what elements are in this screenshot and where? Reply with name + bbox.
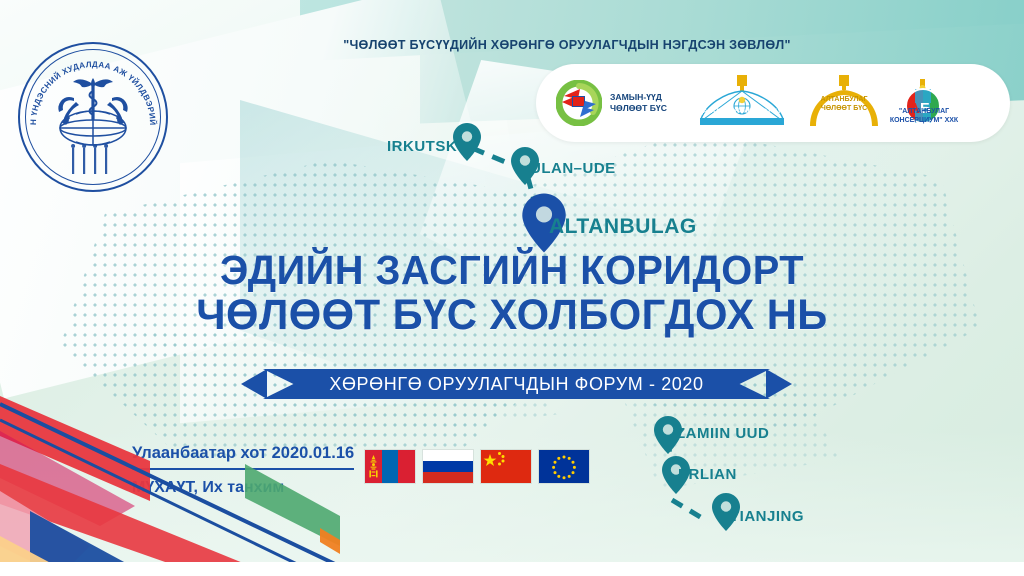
geo-shape-blue bbox=[30, 511, 150, 576]
council-title: "ЧӨЛӨӨТ БҮСҮҮДИЙН ХӨРӨНГӨ ОРУУЛАГЧДЫН НЭ… bbox=[0, 36, 1024, 54]
tsagaannuur-fez-label: ЦАГААННУУР ЧӨЛӨӨТ БҮС bbox=[696, 108, 788, 116]
zamyn-uud-fez-label: ЗАМЫН-ҮҮД ЧӨЛӨӨТ БҮС bbox=[610, 92, 667, 113]
geo-shape-yellow bbox=[0, 536, 60, 576]
altanbulag-fez-line1: АЛТАНБУЛАГ bbox=[804, 96, 884, 105]
flag-mongolia bbox=[365, 450, 415, 483]
main-title-line1: ЭДИЙН ЗАСГИЙН КОРИДОРТ bbox=[15, 248, 1008, 292]
map-pin-tianjing-label: TIANJING bbox=[730, 508, 804, 525]
tsagaannuur-fez-line1: ЦАГААННУУР ЧӨЛӨӨТ БҮС bbox=[698, 108, 785, 115]
altanbulag-consortium-label: "АЛТАНБУЛАГ КОНСЕРЦИУМ" ХХК bbox=[878, 108, 970, 126]
geo-shape-pink bbox=[0, 491, 90, 576]
zamyn-uud-fez-logo: ЗАМЫН-ҮҮД ЧӨЛӨӨТ БҮС bbox=[556, 64, 667, 142]
horses-caduceus-globe-emblem-icon bbox=[18, 42, 168, 192]
geo-shape-magenta bbox=[0, 431, 135, 526]
soyombo-icon bbox=[368, 454, 379, 479]
venue-date: Улаанбаатар хот 2020.01.16 bbox=[132, 444, 354, 470]
mongolian-chamber-of-commerce-logo: МОНГОЛЫН ҮНДЭСНИЙ ХУДАЛДАА АЖ ҮЙЛДВЭРИЙН… bbox=[18, 42, 168, 192]
map-pin-ulan-ude-label: ULAN–UDE bbox=[530, 160, 616, 177]
event-poster: МОНГОЛЫН ҮНДЭСНИЙ ХУДАЛДАА АЖ ҮЙЛДВЭРИЙН… bbox=[0, 0, 1024, 576]
map-pin-zamiin-uud-label: ZAMIIN UUD bbox=[676, 425, 769, 442]
map-pin-erlian-label: ERLIAN bbox=[678, 466, 737, 483]
route-erlian-tianjing bbox=[672, 500, 702, 518]
tsagaannuur-fez-logo: ЦАГААННУУР ЧӨЛӨӨТ БҮС bbox=[696, 64, 788, 142]
free-economic-zones-logo-panel: ЗАМЫН-ҮҮД ЧӨЛӨӨТ БҮС ЦАГААННУУР ЧӨЛӨӨТ Б… bbox=[536, 64, 1010, 142]
bottom-white-strip bbox=[0, 562, 1024, 576]
country-flags bbox=[365, 450, 589, 483]
main-title: ЭДИЙН ЗАСГИЙН КОРИДОРТ ЧӨЛӨӨТ БҮС ХОЛБОГ… bbox=[0, 248, 1024, 339]
flag-china bbox=[481, 450, 531, 483]
forum-ribbon: ХӨРӨНГӨ ОРУУЛАГЧДЫН ФОРУМ - 2020 bbox=[241, 369, 792, 399]
zamyn-uud-fez-line2: ЧӨЛӨӨТ БҮС bbox=[610, 103, 667, 114]
ger-arch-globe-icon bbox=[696, 74, 788, 132]
altanbulag-consortium-logo: А Б Е "АЛТАНБУЛАГ КОНСЕРЦИУМ" ХХК bbox=[896, 64, 950, 142]
main-title-line2: ЧӨЛӨӨТ БҮС ХОЛБОГДОХ НЬ bbox=[15, 292, 1008, 338]
altanbulag-fez-line2: ЧӨЛӨӨТ БҮС bbox=[804, 105, 884, 114]
altanbulag-fez-logo: АЛТАНБУЛАГ ЧӨЛӨӨТ БҮС bbox=[804, 64, 884, 142]
council-title-text: "ЧӨЛӨӨТ БҮСҮҮДИЙН ХӨРӨНГӨ ОРУУЛАГЧДЫН НЭ… bbox=[343, 38, 791, 52]
map-pin-irkutsk-label: IRKUTSK bbox=[387, 138, 457, 155]
venue-block: Улаанбаатар хот 2020.01.16 МҮХАҮТ, Их та… bbox=[132, 444, 354, 497]
flag-russia bbox=[423, 450, 473, 483]
eu-stars-circle-icon bbox=[539, 450, 589, 483]
altanbulag-consortium-line2: КОНСЕРЦИУМ" ХХК bbox=[878, 117, 970, 126]
altanbulag-fez-label: АЛТАНБУЛАГ ЧӨЛӨӨТ БҮС bbox=[804, 96, 884, 114]
zamyn-uud-fez-line1: ЗАМЫН-ҮҮД bbox=[610, 92, 667, 103]
green-swirl-arrows-icon bbox=[556, 80, 602, 126]
altanbulag-consortium-line1: "АЛТАНБУЛАГ bbox=[878, 108, 970, 117]
china-stars-icon bbox=[481, 450, 531, 483]
geo-shape-orange bbox=[320, 528, 340, 554]
flag-european-union bbox=[539, 450, 589, 483]
venue-place: МҮХАҮТ, Их танхим bbox=[132, 479, 354, 497]
ribbon-text: ХӨРӨНГӨ ОРУУЛАГЧДЫН ФОРУМ - 2020 bbox=[241, 369, 792, 399]
map-pin-altanbulag-label: ALTANBULAG bbox=[549, 215, 697, 239]
geo-shape-red bbox=[0, 396, 150, 501]
